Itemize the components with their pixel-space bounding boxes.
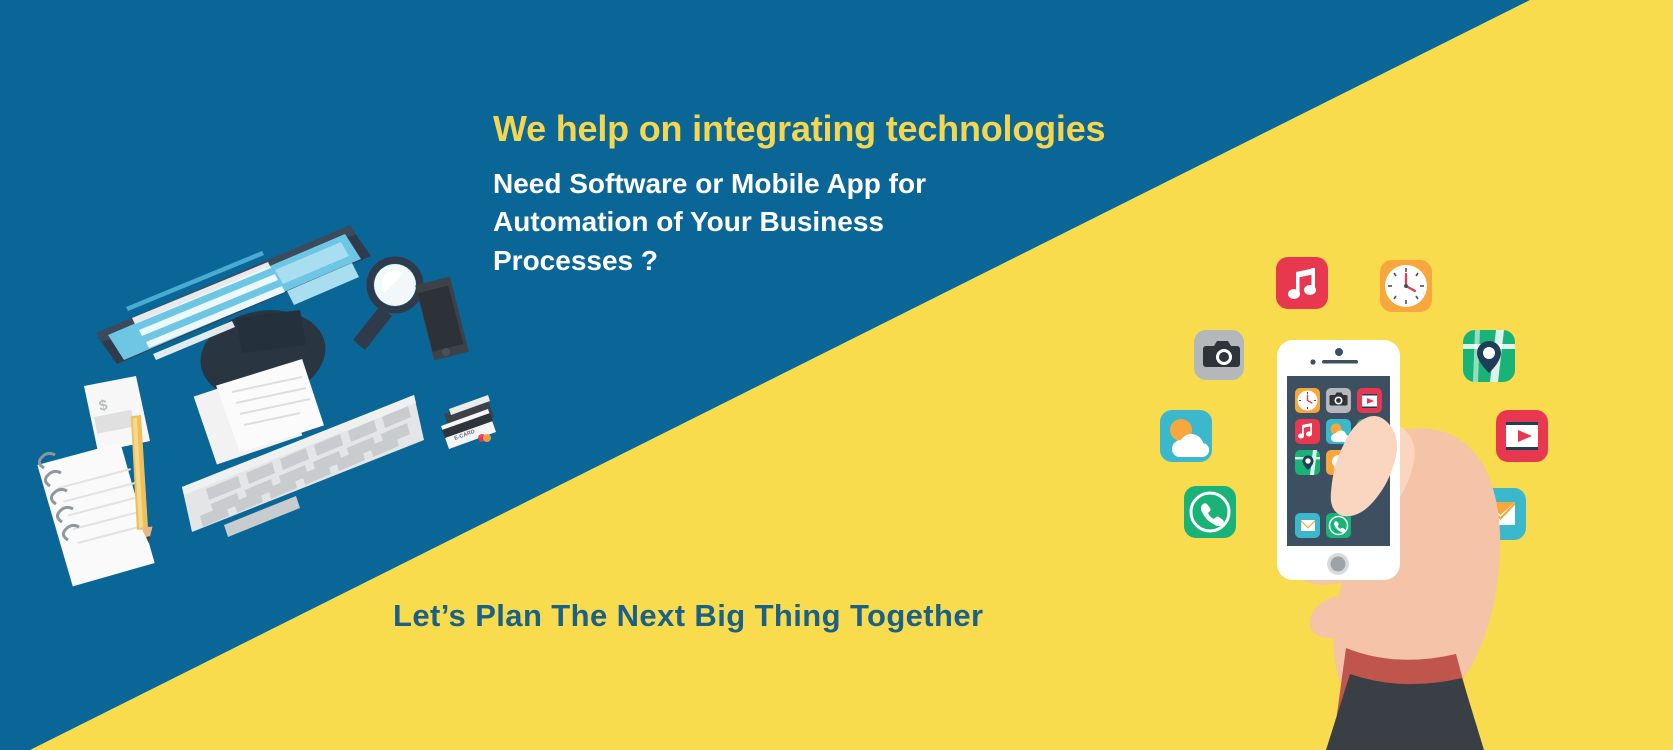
subheadline: Need Software or Mobile App for Automati… <box>493 165 1053 279</box>
phone-app-camera-icon <box>1326 388 1351 413</box>
phone-app-maps-icon <box>1295 450 1320 475</box>
phone-icon <box>1184 486 1236 538</box>
text-block: We help on integrating technologies Need… <box>493 108 1193 280</box>
phone-app-phone-icon <box>1326 513 1351 538</box>
promo-banner: $ <box>0 0 1673 750</box>
video-icon <box>1496 410 1548 462</box>
phone-app-music-icon <box>1295 419 1320 444</box>
subheadline-line-1: Need Software or Mobile App for <box>493 165 1053 203</box>
subheadline-line-3: Processes ? <box>493 242 1053 280</box>
subheadline-line-2: Automation of Your Business <box>493 203 1053 241</box>
cta-text: Let’s Plan The Next Big Thing Together <box>393 598 983 634</box>
phone-app-mail-icon <box>1295 513 1320 538</box>
phone-app-clock-icon <box>1295 388 1320 413</box>
phone-app-video-icon <box>1357 388 1382 413</box>
camera-icon <box>1194 330 1244 380</box>
clock-icon <box>1380 260 1432 312</box>
maps-icon <box>1463 330 1515 382</box>
music-icon <box>1276 257 1328 309</box>
weather-icon <box>1160 410 1212 462</box>
headline: We help on integrating technologies <box>493 108 1193 149</box>
